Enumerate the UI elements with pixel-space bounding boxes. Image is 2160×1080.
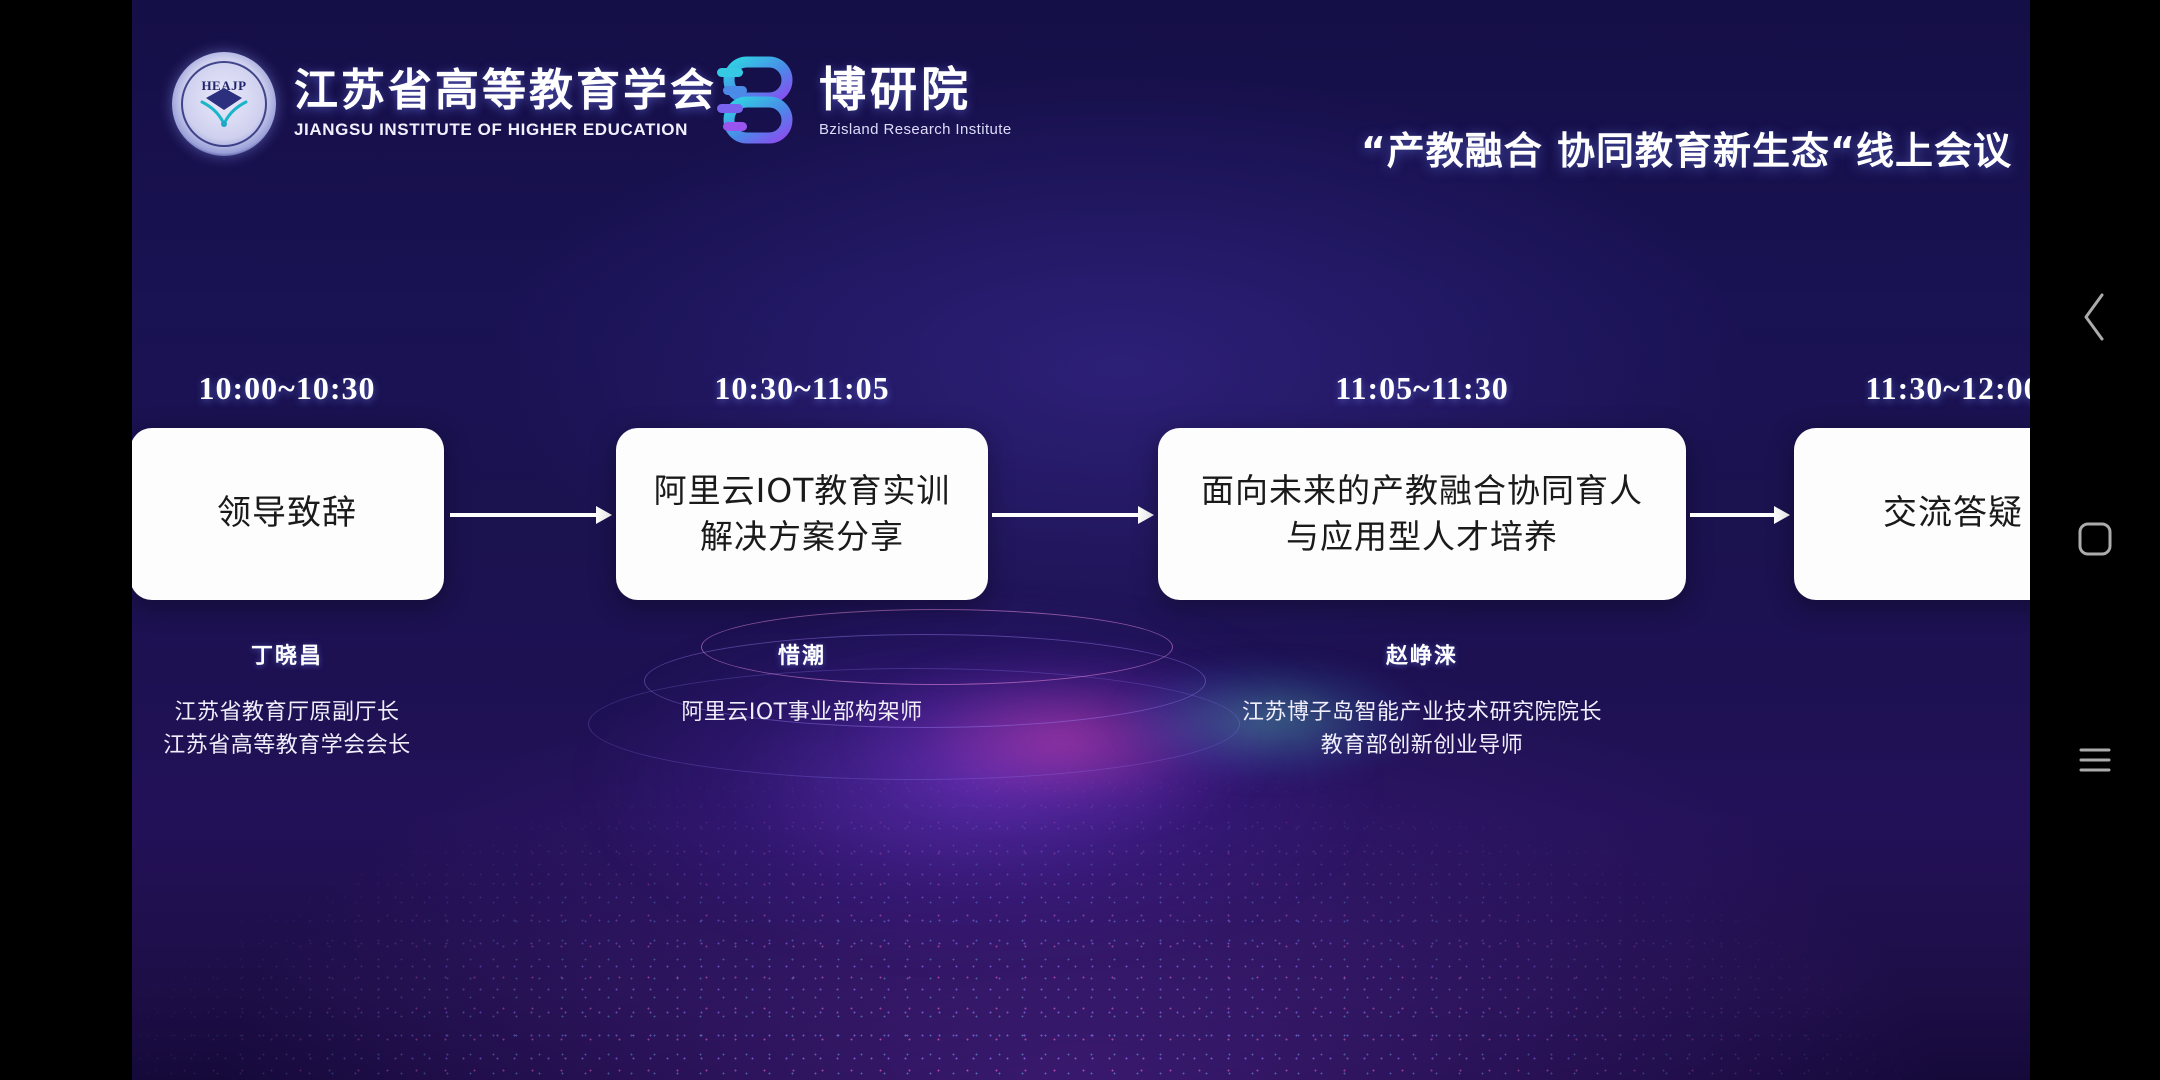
agenda-step-4-time: 11:30~12:00 [1794,370,2030,407]
agenda-arrow-2 [992,509,1154,521]
slide-header: HEAJP 江苏省高等教育学会 JIANGSU INSTITUTE OF HIG… [132,42,2030,177]
agenda-step-3-time: 11:05~11:30 [1158,370,1686,407]
agenda-step-1-title-line-1: 领导致辞 [217,495,357,532]
arrow-shaft [450,513,596,517]
agenda-step-2-card[interactable]: 阿里云IOT教育实训 解决方案分享 [616,428,988,600]
bzisland-logo: 博研院 Bzisland Research Institute [717,56,1012,148]
agenda-arrow-3 [1690,509,1790,521]
agenda-step-2-time: 10:30~11:05 [616,370,988,407]
agenda-speaker-2-role-line-1: 阿里云IOT事业部构架师 [616,696,988,729]
agenda-step-2-title-line-2: 解决方案分享 [700,519,904,555]
agenda-speaker-1-role: 江苏省教育厅原副厅长 江苏省高等教育学会会长 [132,696,444,762]
arrow-head [1774,506,1790,524]
agenda-speaker-3-role-line-2: 教育部创新创业导师 [1158,729,1686,762]
arrow-head [1138,506,1154,524]
arrow-head [596,506,612,524]
institute-logo-text: 江苏省高等教育学会 JIANGSU INSTITUTE OF HIGHER ED… [294,68,717,140]
agenda-speaker-3-role-line-1: 江苏博子岛智能产业技术研究院院长 [1158,696,1686,729]
seal-book-emblem-icon [196,84,252,128]
agenda-arrow-1 [450,509,612,521]
agenda-step-1-time: 10:00~10:30 [132,370,444,407]
screen: HEAJP 江苏省高等教育学会 JIANGSU INSTITUTE OF HIG… [0,0,2160,1080]
agenda-step-4-card[interactable]: 交流答疑 [1794,428,2030,600]
agenda-step-3-title-line-1: 面向未来的产教融合协同育人 [1201,473,1643,509]
agenda-step-3-title-line-2: 与应用型人才培养 [1286,519,1558,555]
arrow-shaft [1690,513,1774,517]
bzisland-logo-text: 博研院 Bzisland Research Institute [819,67,1012,138]
bzisland-name-en: Bzisland Research Institute [819,121,1012,138]
institute-name-en: JIANGSU INSTITUTE OF HIGHER EDUCATION [294,120,717,140]
agenda-speaker-3: 赵峥涞 江苏博子岛智能产业技术研究院院长 教育部创新创业导师 [1158,638,1686,762]
institute-name-cn: 江苏省高等教育学会 [294,68,717,114]
agenda-step-3-card[interactable]: 面向未来的产教融合协同育人 与应用型人才培养 [1158,428,1686,600]
agenda-speaker-1-role-line-1: 江苏省教育厅原副厅长 [132,696,444,729]
nav-home-button[interactable] [2076,520,2114,563]
agenda-speaker-2-name: 惜潮 [616,638,988,670]
arrow-shaft [992,513,1138,517]
meeting-title: “产教融合 协同教育新生态“线上会议 [1222,120,2012,175]
bzisland-b-mark-icon [717,56,803,148]
agenda-timeline: 10:00~10:30 领导致辞 10:30~11:05 阿里云IOT教育实训 … [132,370,2030,790]
recents-lines-icon [2076,745,2114,775]
agenda-speaker-1: 丁晓昌 江苏省教育厅原副厅长 江苏省高等教育学会会长 [132,638,444,762]
agenda-speaker-2-role: 阿里云IOT事业部构架师 [616,696,988,729]
bzisland-name-cn: 博研院 [819,67,1012,114]
agenda-step-2-title-line-1: 阿里云IOT教育实训 [654,473,951,509]
agenda-step-4-title-line-1: 交流答疑 [1883,495,2023,532]
nav-recents-button[interactable] [2076,745,2114,780]
agenda-speaker-1-role-line-2: 江苏省高等教育学会会长 [132,729,444,762]
agenda-speaker-1-name: 丁晓昌 [132,638,444,670]
nav-back-button[interactable] [2078,290,2112,349]
jiangsu-institute-logo: HEAJP 江苏省高等教育学会 JIANGSU INSTITUTE OF HIG… [172,52,717,156]
android-navigation-bar [2030,0,2160,1080]
agenda-speaker-2: 惜潮 阿里云IOT事业部构架师 [616,638,988,729]
back-chevron-icon [2078,290,2112,344]
agenda-step-1-card[interactable]: 领导致辞 [132,428,444,600]
presentation-slide[interactable]: HEAJP 江苏省高等教育学会 JIANGSU INSTITUTE OF HIG… [132,0,2030,1080]
agenda-speaker-3-name: 赵峥涞 [1158,638,1686,670]
timeline-track: 10:00~10:30 领导致辞 10:30~11:05 阿里云IOT教育实训 … [132,370,2030,625]
institute-seal-icon: HEAJP [172,52,276,156]
home-square-icon [2076,520,2114,558]
agenda-speaker-3-role: 江苏博子岛智能产业技术研究院院长 教育部创新创业导师 [1158,696,1686,762]
